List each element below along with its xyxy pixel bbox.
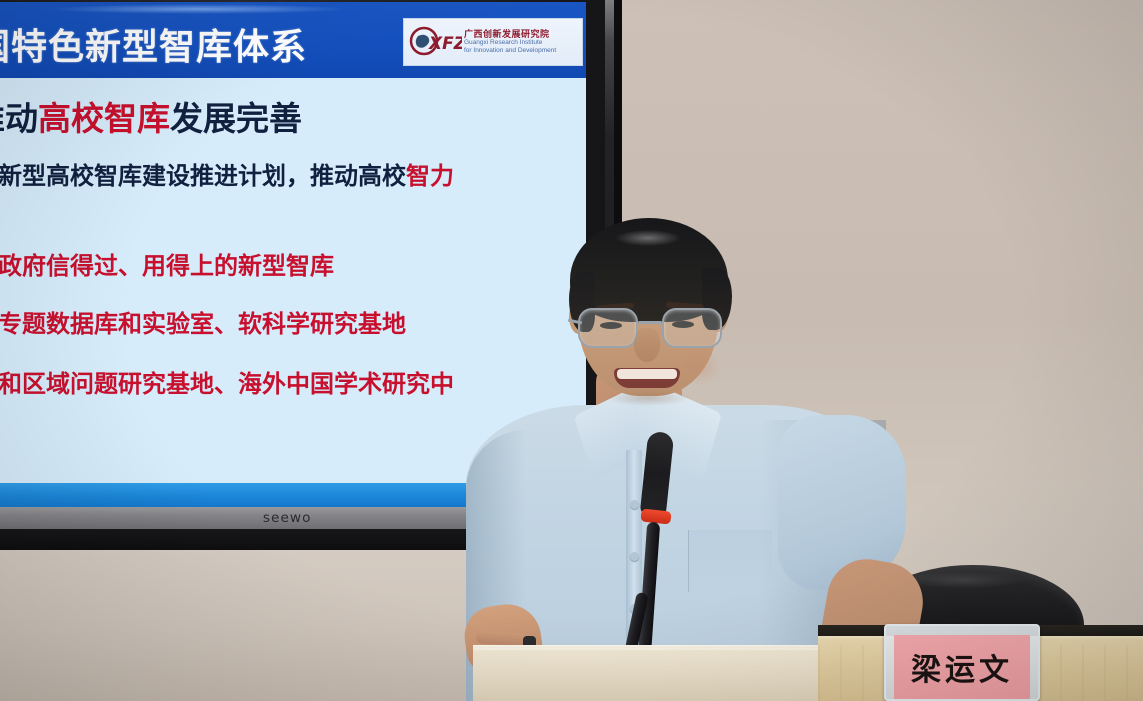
conference-photo-scene: 国特色新型智库体系 XFZ 广西创新发展研究院 Guangxi Research… [0, 0, 1143, 701]
shirt-pocket [688, 530, 772, 592]
speaker-mouth [614, 368, 680, 388]
slide-heading-part2: 发展完善 [170, 100, 302, 137]
nameplate-name: 梁运文 [911, 645, 1013, 689]
svg-text:XFZ: XFZ [428, 34, 462, 54]
screen-glare [48, 4, 348, 14]
eyeglass-bridge [638, 321, 662, 324]
eyeglass-lens-left [578, 308, 638, 348]
logo-cn-name: 广西创新发展研究院 [464, 29, 556, 39]
nameplate-holder: 梁运文 [884, 624, 1040, 701]
eyeglass-lens-right [662, 308, 722, 348]
gooseneck-microphone [622, 432, 692, 662]
slide-heading: 推动高校智库发展完善 [0, 92, 302, 140]
institute-logo: XFZ 广西创新发展研究院 Guangxi Research Institute… [403, 18, 583, 66]
slide-heading-highlight: 高校智库 [38, 100, 170, 137]
logo-en-line1: Guangxi Research Institute [464, 39, 556, 47]
speaker-hair-highlight [616, 230, 680, 246]
slide-title: 国特色新型智库体系 [0, 18, 307, 70]
nameplate-card: 梁运文 [894, 635, 1030, 699]
slide-heading-part1: 推动 [0, 100, 38, 137]
slide-bullet-1-red: 智力 [406, 163, 454, 190]
logo-text-block: 广西创新发展研究院 Guangxi Research Institute for… [464, 29, 556, 56]
slide-bullet-4: 球和区域问题研究基地、海外中国学术研究中 [0, 364, 454, 399]
slide-bullet-3: 学专题数据库和实验室、软科学研究基地 [0, 304, 406, 339]
speaker-teeth [617, 369, 677, 379]
speaker-cheek [682, 350, 720, 384]
speaker-chin-shadow [606, 390, 690, 406]
seewo-brand-label: seewo [263, 511, 312, 526]
slide-bullet-1: 色新型高校智库建设推进计划，推动高校智力 [0, 156, 454, 191]
slide-bullet-1-dark: 色新型高校智库建设推进计划，推动高校 [0, 163, 406, 190]
slide-bullet-2: 和政府信得过、用得上的新型智库 [0, 246, 334, 281]
xfz-logo-icon: XFZ [408, 22, 462, 62]
office-chair-highlight [902, 572, 1022, 588]
microphone-windscreen [640, 431, 675, 517]
podium-front-panel [473, 648, 818, 701]
speaker-nose [634, 328, 660, 362]
logo-en-line2: for Innovation and Development [464, 47, 556, 55]
